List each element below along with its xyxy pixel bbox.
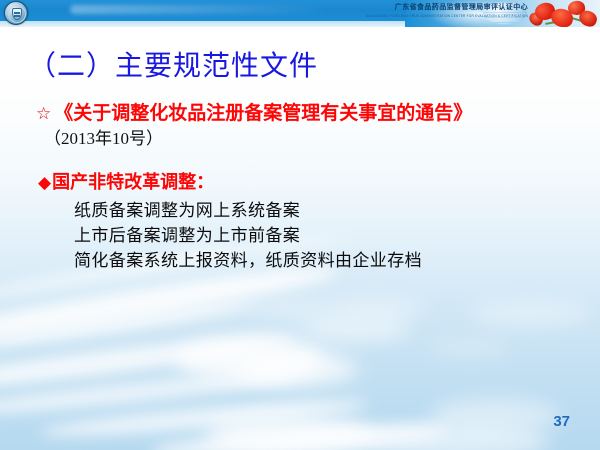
- document-title: 《关于调整化妆品注册备案管理有关事宜的通告》: [54, 103, 472, 124]
- agency-emblem-icon: [4, 1, 28, 25]
- cloud-puff: [250, 300, 340, 318]
- section-item: 上市后备案调整为上市前备案: [74, 221, 300, 246]
- cloud-streak: [0, 259, 339, 352]
- section-item: 纸质备案调整为网上系统备案: [74, 196, 300, 221]
- cloud-puff: [430, 398, 560, 432]
- star-icon: ☆: [36, 104, 51, 123]
- banner-highlight: [70, 5, 330, 14]
- cloud-puff: [360, 424, 550, 450]
- slide-title: （二）主要规范性文件: [28, 44, 318, 84]
- diamond-bullet-icon: ◆: [38, 173, 51, 192]
- cloud-puff: [330, 298, 425, 318]
- document-number: （2013年10号）: [44, 124, 163, 149]
- presentation-slide: 广东省食品药品监督管理局审评认证中心 GUANGDONG FOOD AND DR…: [0, 0, 600, 450]
- section-heading-line: ◆国产非特改革调整：: [38, 168, 214, 194]
- cloud-streak: [0, 366, 300, 422]
- cloud-puff: [175, 338, 325, 382]
- cloud-streak: [150, 420, 451, 450]
- cloud-streak: [0, 295, 260, 358]
- cloud-puff: [238, 352, 358, 386]
- cloud-puff: [430, 340, 510, 356]
- section-heading-label: 国产非特改革调整：: [52, 172, 214, 192]
- cloud-streak: [0, 328, 300, 399]
- cloud-puff: [470, 300, 590, 326]
- page-number: 37: [553, 413, 570, 430]
- cloud-puff: [300, 316, 410, 342]
- slide-header-banner: 广东省食品药品监督管理局审评认证中心 GUANGDONG FOOD AND DR…: [0, 0, 600, 27]
- organization-name-english: GUANGDONG FOOD AND DRUG ADMINISTRATION C…: [366, 14, 528, 18]
- cloud-puff: [205, 415, 375, 450]
- organization-name: 广东省食品药品监督管理局审评认证中心: [366, 2, 528, 12]
- cloud-streak: [40, 394, 370, 443]
- section-item: 简化备案系统上报资料，纸质资料由企业存档: [74, 246, 422, 271]
- document-reference-line: ☆《关于调整化妆品注册备案管理有关事宜的通告》: [36, 98, 472, 125]
